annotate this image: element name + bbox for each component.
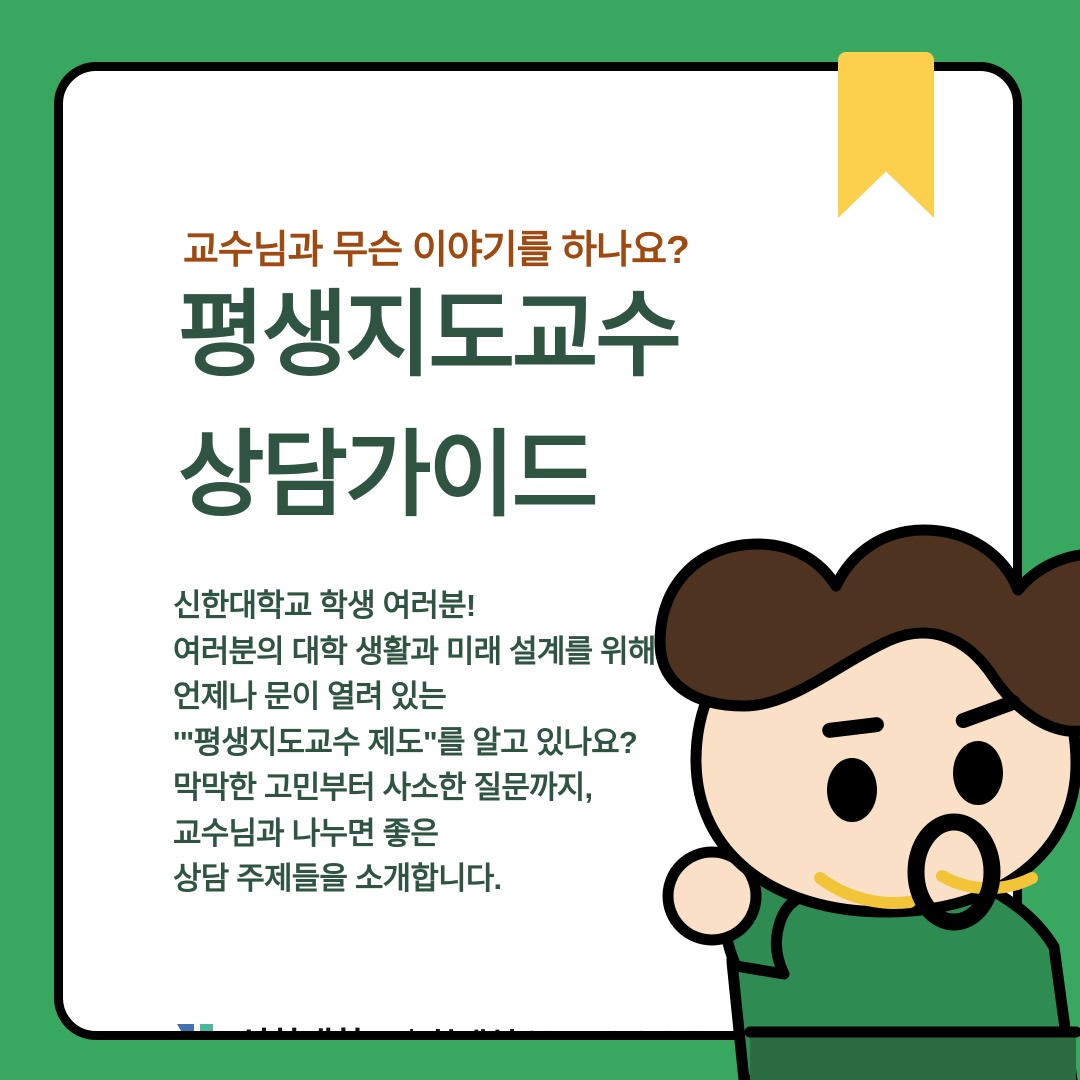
footer-branding: 신한대학교 | 학생처 / 학생상담센터	[167, 1019, 699, 1040]
footer-department: 학생처	[427, 1019, 516, 1041]
footer-slash: /	[524, 1026, 532, 1040]
body-line-4: '"평생지도교수 제도"를 알고 있나요?	[173, 720, 656, 766]
footer-counseling-center: 학생상담센터	[541, 1021, 699, 1040]
body-line-7: 상담 주제들을 소개합니다.	[173, 856, 656, 902]
body-line-5: 막막한 고민부터 사소한 질문까지,	[173, 765, 656, 811]
footer-separator: |	[407, 1024, 416, 1041]
card-title: 평생지도교수 상담가이드	[178, 293, 679, 517]
card-subtitle: 교수님과 무슨 이야기를 하나요?	[183, 219, 689, 275]
content-card: 교수님과 무슨 이야기를 하나요? 평생지도교수 상담가이드 신한대학교 학생 …	[54, 62, 1022, 1040]
poster-canvas: 교수님과 무슨 이야기를 하나요? 평생지도교수 상담가이드 신한대학교 학생 …	[0, 0, 1080, 1080]
body-line-6: 교수님과 나누면 좋은	[173, 811, 656, 857]
card-body: 신한대학교 학생 여러분! 여러분의 대학 생활과 미래 설계를 위해 언제나 …	[173, 583, 656, 902]
footer-university-name: 신한대학교	[237, 1017, 395, 1040]
body-line-3: 언제나 문이 열려 있는	[173, 674, 656, 720]
body-line-1: 신한대학교 학생 여러분!	[173, 583, 656, 629]
shinhan-university-logo-icon	[167, 1021, 223, 1040]
title-line-1: 평생지도교수	[178, 293, 679, 377]
title-line-2: 상담가이드	[178, 433, 679, 517]
body-line-2: 여러분의 대학 생활과 미래 설계를 위해	[173, 629, 656, 675]
